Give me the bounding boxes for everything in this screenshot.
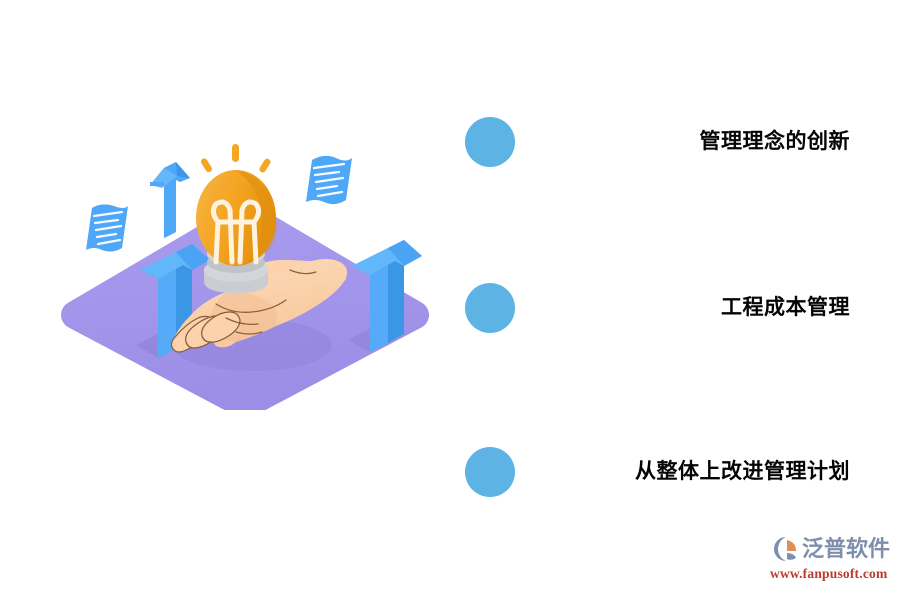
logo-website-url: www.fanpusoft.com — [770, 566, 895, 582]
bullet-item-1-label: 管理理念的创新 — [515, 129, 865, 154]
logo-brand-name: 泛普软件 — [802, 538, 890, 560]
arrow-up-back-left — [150, 162, 190, 238]
bullet-item-1[interactable]: 管理理念的创新 — [455, 115, 865, 169]
hand-holding-lightbulb-illustration — [40, 140, 450, 410]
bullet-dot-icon — [465, 117, 515, 167]
bullet-list: 管理理念的创新 工程成本管理 从整体上改进管理计划 — [455, 100, 865, 520]
bullet-item-2[interactable]: 工程成本管理 — [455, 281, 865, 335]
lightbulb-icon — [196, 144, 276, 293]
slide-canvas: 管理理念的创新 工程成本管理 从整体上改进管理计划 泛普软件 www.fanpu… — [0, 0, 900, 600]
spark-lines — [200, 144, 272, 174]
bullet-item-2-label: 工程成本管理 — [515, 295, 865, 320]
logo-top-row: 泛普软件 — [770, 533, 895, 565]
paper-scrap-right — [306, 156, 352, 204]
paper-scrap-left — [86, 204, 128, 251]
bullet-dot-icon — [465, 447, 515, 497]
fanpusoft-logo[interactable]: 泛普软件 www.fanpusoft.com — [770, 533, 895, 585]
bullet-dot-icon — [465, 283, 515, 333]
bullet-item-3-label: 从整体上改进管理计划 — [515, 459, 865, 484]
fanpusoft-mark-icon — [770, 534, 800, 564]
bullet-item-3[interactable]: 从整体上改进管理计划 — [455, 445, 865, 499]
